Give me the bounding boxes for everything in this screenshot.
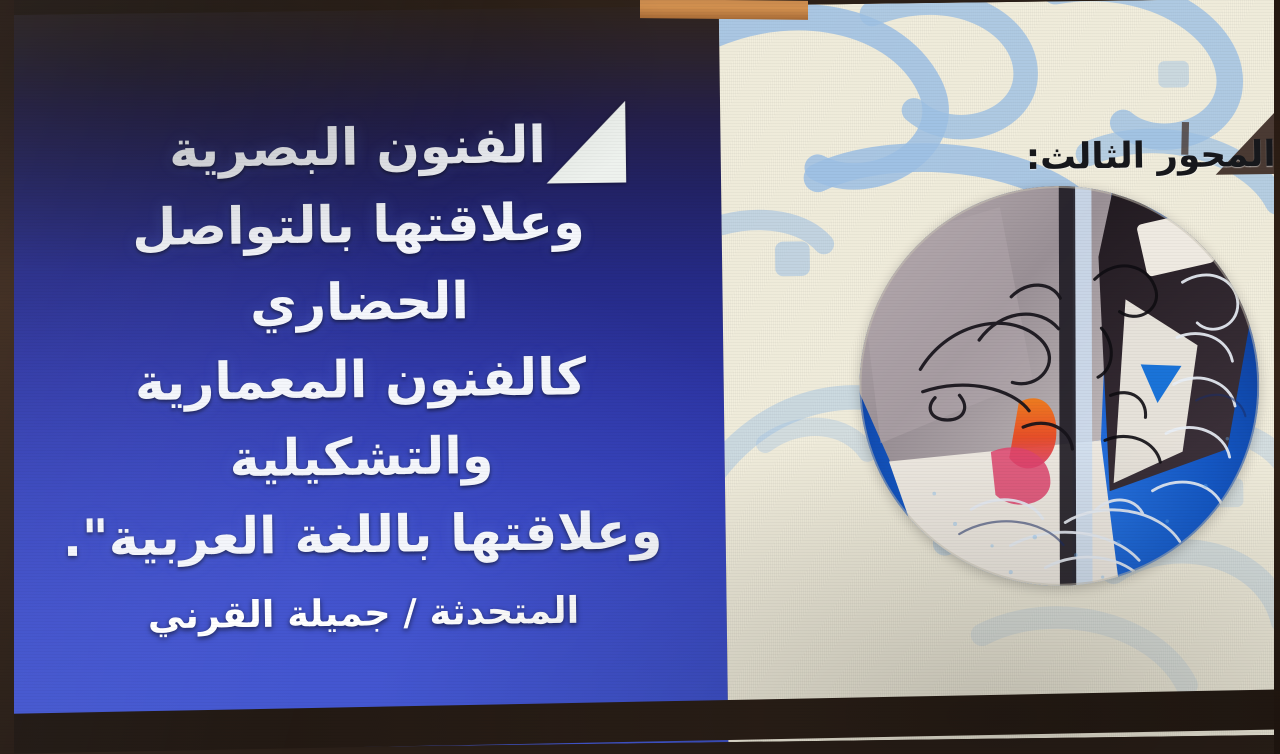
photo-of-presentation-screen: الفنون البصرية وعلاقتها بالتواصل الحضاري… [0, 0, 1280, 754]
title-line-2: وعلاقتها بالتواصل الحضاري [19, 182, 698, 346]
slide-title-block: الفنون البصرية وعلاقتها بالتواصل الحضاري… [18, 104, 702, 645]
screen-bezel-left [0, 0, 14, 754]
slide-content-panel: المحور الثالث: [719, 0, 1280, 742]
title-line-1: الفنون البصرية [18, 104, 696, 190]
presentation-slide: الفنون البصرية وعلاقتها بالتواصل الحضاري… [0, 0, 1280, 752]
title-line-3: كالفنون المعمارية والتشكيلية [21, 337, 700, 501]
section-heading: المحور الثالث: [1026, 134, 1276, 178]
speaker-label: المتحدثة / جميلة القرني [25, 583, 703, 645]
title-line-4: وعلاقتها باللغة العربية". [23, 492, 701, 578]
screen-bezel-right [1274, 0, 1280, 754]
slide-title-panel: الفنون البصرية وعلاقتها بالتواصل الحضاري… [0, 6, 728, 752]
wooden-frame-bar [640, 0, 808, 20]
